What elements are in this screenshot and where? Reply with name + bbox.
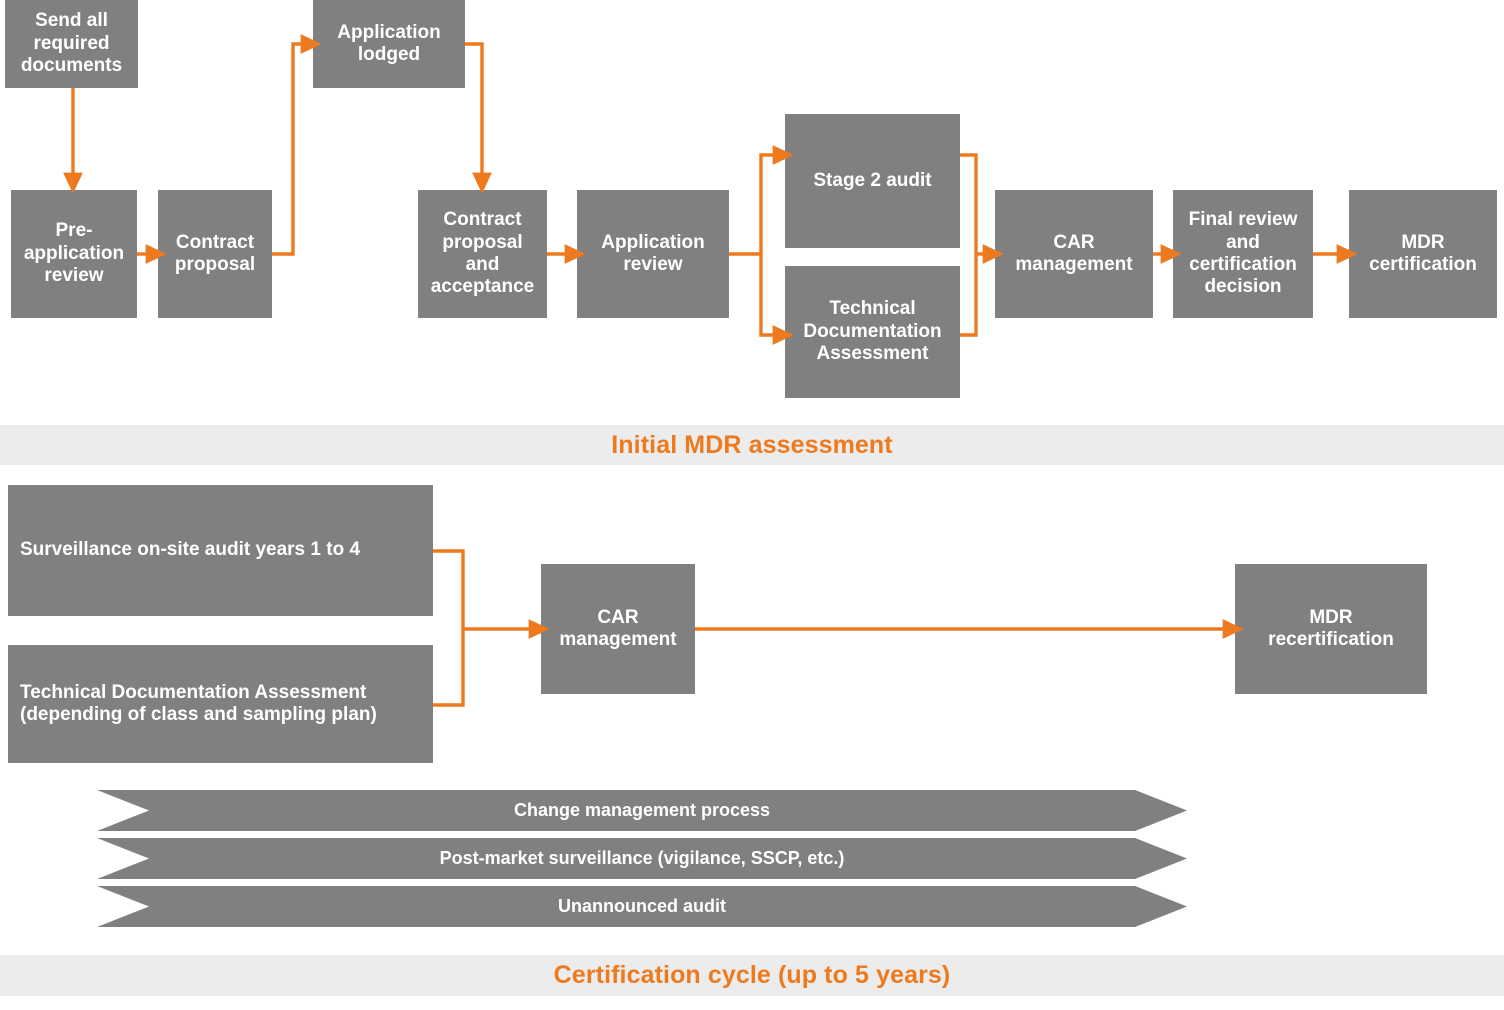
wire-surveillance-to-merge — [433, 551, 463, 629]
wire-cycle-technical-documentation-to-merge — [433, 629, 463, 705]
ongoing-bar-post-market-surveillance-label: Post-market surveillance (vigilance, SSC… — [440, 848, 845, 869]
box-final-review-and-certification-decision: Final review and certification decision — [1173, 190, 1313, 318]
wire-stage-2-audit-to-merge — [960, 155, 976, 254]
ongoing-bar-unannounced-audit-label: Unannounced audit — [558, 896, 726, 917]
ongoing-bar-post-market-surveillance: Post-market surveillance (vigilance, SSC… — [97, 838, 1187, 879]
ongoing-bar-unannounced-audit: Unannounced audit — [97, 886, 1187, 927]
band-initial-mdr-assessment-label: Initial MDR assessment — [611, 431, 892, 460]
wire-technical-documentation-to-merge — [960, 254, 976, 335]
wire-split-to-technical-documentation — [761, 254, 774, 335]
ongoing-bar-change-management-label: Change management process — [514, 800, 770, 821]
ongoing-bar-change-management: Change management process — [97, 790, 1187, 831]
wire-application-lodged-to-contract-acceptance — [465, 44, 482, 174]
band-initial-mdr-assessment: Initial MDR assessment — [0, 425, 1504, 465]
box-cycle-technical-documentation-assessment: Technical Documentation Assessment (depe… — [8, 645, 433, 763]
band-certification-cycle-label: Certification cycle (up to 5 years) — [554, 961, 951, 990]
box-surveillance-on-site-audit: Surveillance on-site audit years 1 to 4 — [8, 485, 433, 616]
wire-split-to-stage-2-audit — [761, 155, 774, 254]
box-application-lodged: Application lodged — [313, 0, 465, 88]
flowchart-canvas: Send all required documents Pre- applica… — [0, 0, 1504, 1010]
box-contract-proposal: Contract proposal — [158, 190, 272, 318]
box-pre-application-review: Pre- application review — [11, 190, 137, 318]
box-mdr-certification: MDR certification — [1349, 190, 1497, 318]
box-send-required-documents: Send all required documents — [5, 0, 138, 88]
box-contract-proposal-and-acceptance: Contract proposal and acceptance — [418, 190, 547, 318]
box-application-review: Application review — [577, 190, 729, 318]
box-stage-2-audit: Stage 2 audit — [785, 114, 960, 248]
box-car-management: CAR management — [995, 190, 1153, 318]
band-certification-cycle: Certification cycle (up to 5 years) — [0, 955, 1504, 996]
box-cycle-car-management: CAR management — [541, 564, 695, 694]
box-technical-documentation-assessment: Technical Documentation Assessment — [785, 266, 960, 398]
box-mdr-recertification: MDR recertification — [1235, 564, 1427, 694]
wire-contract-proposal-to-application-lodged — [272, 44, 302, 254]
